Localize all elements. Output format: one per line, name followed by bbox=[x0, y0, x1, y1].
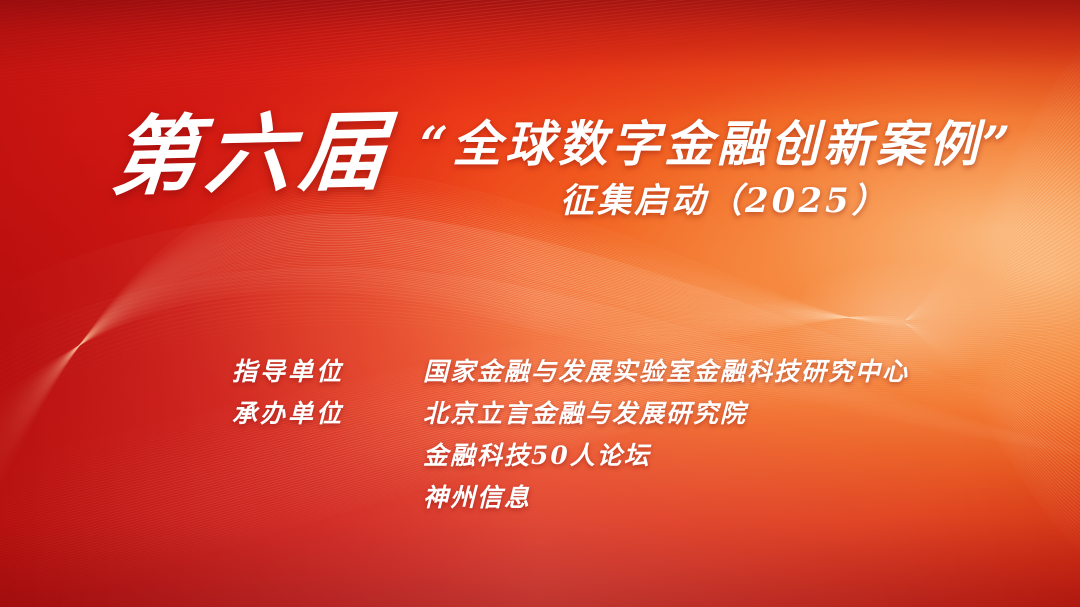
page-title: 第六届 bbox=[108, 109, 398, 201]
poster-canvas: 第六届 “全球数字金融创新案例” 征集启动（2025） 指导单位 国家金融与发展… bbox=[0, 0, 1080, 607]
organization-row: 承办单位 北京立言金融与发展研究院 bbox=[232, 400, 909, 442]
organization-label: 承办单位 bbox=[232, 400, 423, 428]
organization-value: 神州信息 bbox=[423, 484, 531, 512]
organization-row: 神州信息 bbox=[232, 484, 909, 526]
organization-label: 指导单位 bbox=[232, 358, 423, 386]
organization-list: 指导单位 国家金融与发展实验室金融科技研究中心 承办单位 北京立言金融与发展研究… bbox=[232, 358, 909, 526]
organization-value: 金融科技50人论坛 bbox=[423, 442, 651, 470]
title-quoted-theme: “全球数字金融创新案例” bbox=[420, 120, 1014, 169]
organization-row: 指导单位 国家金融与发展实验室金融科技研究中心 bbox=[232, 358, 909, 400]
poster-content: 第六届 “全球数字金融创新案例” 征集启动（2025） 指导单位 国家金融与发展… bbox=[0, 0, 1080, 607]
title-subtitle-launch-year: 征集启动（2025） bbox=[560, 184, 889, 218]
organization-value: 北京立言金融与发展研究院 bbox=[423, 400, 747, 428]
organization-value: 国家金融与发展实验室金融科技研究中心 bbox=[423, 358, 909, 386]
organization-row: 金融科技50人论坛 bbox=[232, 442, 909, 484]
